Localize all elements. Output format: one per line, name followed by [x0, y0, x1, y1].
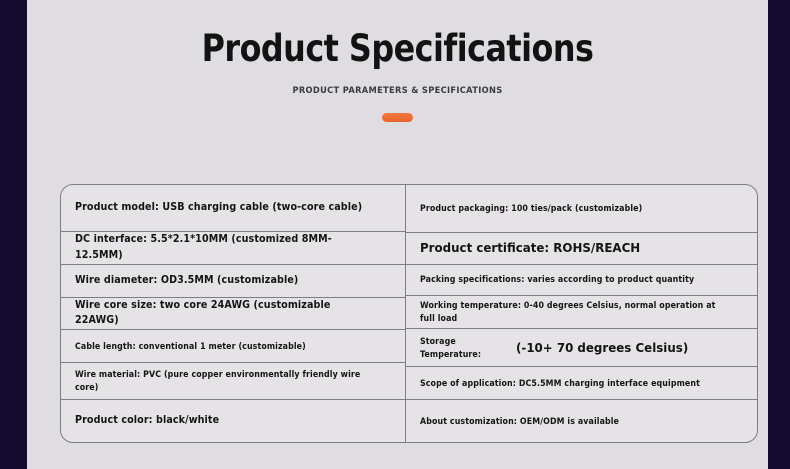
divider-wrap	[27, 96, 768, 122]
spec-row: Storage Temperature:(-10+ 70 degrees Cel…	[406, 329, 758, 367]
page-root: Product Specifications PRODUCT PARAMETER…	[0, 0, 790, 469]
spec-row: Scope of application: DC5.5MM charging i…	[406, 367, 758, 400]
spec-row-text: Product model: USB charging cable (two-c…	[75, 200, 362, 216]
spec-row: Packing specifications: varies according…	[406, 265, 758, 296]
spec-column-left: Product model: USB charging cable (two-c…	[61, 185, 406, 442]
specifications-card: Product model: USB charging cable (two-c…	[60, 184, 758, 443]
page-title: Product Specifications	[79, 0, 716, 67]
spec-row: Product packaging: 100 ties/pack (custom…	[406, 185, 758, 233]
page-header: Product Specifications PRODUCT PARAMETER…	[27, 0, 768, 122]
spec-column-right: Product packaging: 100 ties/pack (custom…	[406, 185, 758, 442]
spec-row: DC interface: 5.5*2.1*10MM (customized 8…	[61, 232, 405, 265]
spec-row-text: Wire diameter: OD3.5MM (customizable)	[75, 273, 298, 289]
spec-row: Cable length: conventional 1 meter (cust…	[61, 330, 405, 363]
spec-row: Product certificate: ROHS/REACH	[406, 233, 758, 265]
page-subtitle: PRODUCT PARAMETERS & SPECIFICATIONS	[57, 67, 739, 96]
spec-row-label: Storage Temperature:	[420, 335, 510, 361]
spec-row-split: Storage Temperature:(-10+ 70 degrees Cel…	[420, 335, 745, 361]
spec-row-text: Product certificate: ROHS/REACH	[420, 238, 640, 258]
spec-row-text: Wire material: PVC (pure copper environm…	[75, 368, 373, 394]
spec-row: About customization: OEM/ODM is availabl…	[406, 400, 758, 442]
spec-row: Wire core size: two core 24AWG (customiz…	[61, 298, 405, 331]
spec-row-text: DC interface: 5.5*2.1*10MM (customized 8…	[75, 232, 373, 264]
spec-row-text: Working temperature: 0-40 degrees Celsiu…	[420, 299, 725, 325]
spec-row-text: Wire core size: two core 24AWG (customiz…	[75, 298, 373, 330]
orange-pill-divider-icon	[382, 113, 413, 122]
spec-row: Wire diameter: OD3.5MM (customizable)	[61, 265, 405, 298]
content-stage: Product Specifications PRODUCT PARAMETER…	[27, 0, 768, 469]
spec-row-text: Product color: black/white	[75, 413, 219, 429]
spec-row-text: Scope of application: DC5.5MM charging i…	[420, 377, 700, 390]
spec-row-value: (-10+ 70 degrees Celsius)	[516, 338, 731, 358]
spec-row: Working temperature: 0-40 degrees Celsiu…	[406, 296, 758, 330]
spec-row-text: Product packaging: 100 ties/pack (custom…	[420, 202, 642, 215]
spec-row: Product color: black/white	[61, 400, 405, 442]
spec-row-text: About customization: OEM/ODM is availabl…	[420, 415, 619, 428]
spec-row: Product model: USB charging cable (two-c…	[61, 185, 405, 232]
spec-row-text: Packing specifications: varies according…	[420, 273, 694, 286]
spec-row-text: Cable length: conventional 1 meter (cust…	[75, 340, 306, 353]
spec-row: Wire material: PVC (pure copper environm…	[61, 363, 405, 400]
